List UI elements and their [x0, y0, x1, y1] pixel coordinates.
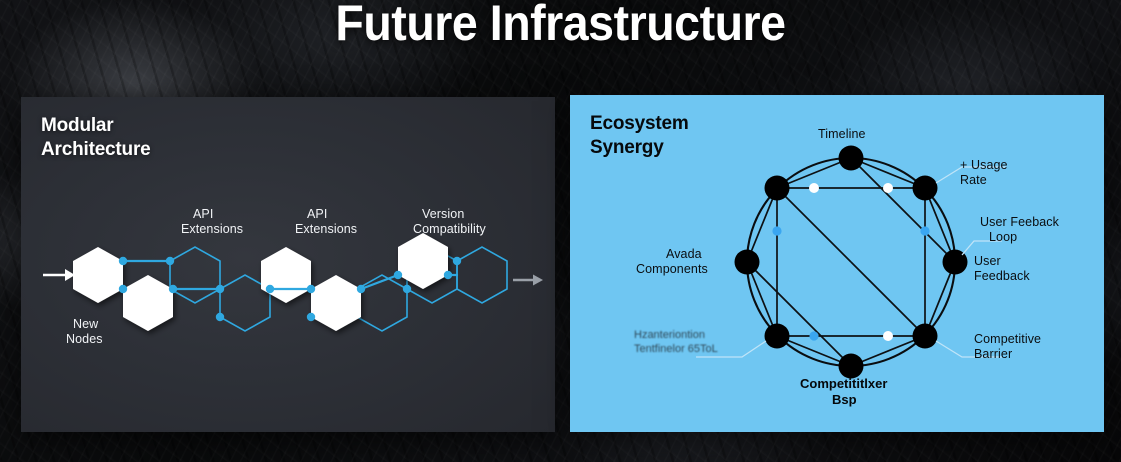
network-node-blurred: [765, 324, 790, 349]
accent-dot-blue-1: [772, 226, 781, 235]
accent-dot-blue-2: [920, 226, 929, 235]
network-label-user-feedback-line2: Feedback: [974, 269, 1030, 283]
network-node-usage-rate: [913, 176, 938, 201]
slide-canvas: Future Infrastructure Modular Architectu…: [0, 0, 1121, 462]
network-node-timeline: [839, 146, 864, 171]
network-label-blurred-line1: Hzanteriontion: [634, 329, 705, 341]
accent-dot-blue-3: [809, 331, 818, 340]
filled-hexagon-1: [73, 247, 123, 303]
network-label-timeline: Timeline: [818, 127, 866, 141]
network-label-avada-line1: Avada: [666, 247, 702, 261]
filled-hexagon-7: [398, 233, 448, 289]
network-node-upper-left: [765, 176, 790, 201]
page-title: Future Infrastructure: [39, 0, 1082, 52]
hex-label-version-compat-line1: Version: [422, 207, 464, 221]
filled-hexagons: [73, 233, 448, 331]
outline-hexagon-3: [170, 247, 220, 303]
network-label-competitive-bsp-line1: Competititlxer: [800, 376, 887, 391]
network-label-avada-line2: Components: [636, 262, 708, 276]
outline-hexagon-10: [457, 247, 507, 303]
network-label-competitive-bsp-line2: Bsp: [832, 392, 857, 407]
outline-hexagon-8: [357, 275, 407, 331]
filled-hexagon-4: [261, 247, 311, 303]
ecosystem-synergy-panel: Ecosystem Synergy: [570, 95, 1104, 432]
network-label-user-feedback-line1: User: [974, 254, 1001, 268]
hex-label-new-nodes-line1: New: [73, 317, 99, 331]
network-label-competitive-barrier-line2: Barrier: [974, 347, 1012, 361]
hex-label-api-extensions-2-line1: API: [307, 207, 327, 221]
hex-label-api-extensions-1-line2: Extensions: [181, 222, 243, 236]
network-node-avada-components: [735, 250, 760, 275]
flow-out-arrow-icon: [513, 275, 543, 286]
network-label-usage-rate-line2: Rate: [960, 173, 987, 187]
hex-label-api-extensions-1-line1: API: [193, 207, 213, 221]
accent-dot-white-2: [883, 183, 893, 193]
network-label-usage-rate-line1: + Usage: [960, 158, 1008, 172]
network-label-feeback-loop-line2: Loop: [989, 230, 1017, 244]
accent-dot-white-1: [809, 183, 819, 193]
hex-label-api-extensions-2-line2: Extensions: [295, 222, 357, 236]
hex-label-version-compat-line2: Compatibility: [413, 222, 487, 236]
filled-hexagon-2: [123, 275, 173, 331]
network-label-competitive-barrier-line1: Competitive: [974, 332, 1041, 346]
flow-in-arrow-icon: [43, 269, 75, 281]
modular-architecture-panel: Modular Architecture: [21, 97, 555, 432]
hex-label-new-nodes-line2: Nodes: [66, 332, 103, 346]
accent-dot-white-3: [883, 331, 893, 341]
network-label-feeback-loop-line1: User Feeback: [980, 215, 1060, 229]
circular-network-diagram: Timeline + Usage Rate User Feeback Loop …: [570, 95, 1104, 432]
network-node-competitive-barrier: [913, 324, 938, 349]
hexagon-chain-diagram: New Nodes API Extensions API Extensions …: [21, 97, 555, 432]
filled-hexagon-5: [311, 275, 361, 331]
network-node-competitive-bsp: [839, 354, 864, 379]
network-label-blurred-line2: Tentfinelor 65ToL: [634, 343, 718, 355]
